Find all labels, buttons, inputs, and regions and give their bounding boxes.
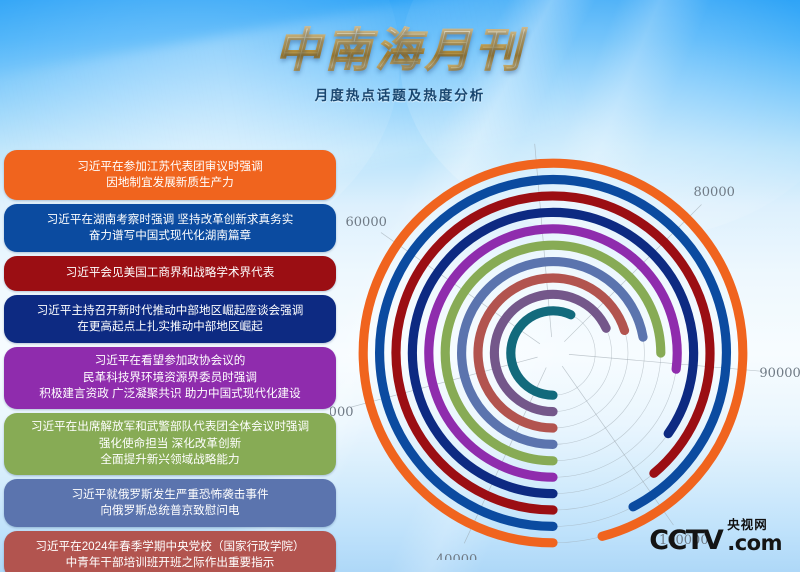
topic-legend-item[interactable]: 习近平在参加江苏代表团审议时强调 因地制宜发展新质生产力 — [4, 150, 336, 200]
chart-bar-arc[interactable] — [363, 163, 743, 543]
radial-bar-chart: 400005000060000700008000090000100000 — [330, 140, 800, 560]
cctv-wordmark: CCTV — [649, 527, 722, 554]
topic-legend-label: 习近平在湖南考察时强调 坚持改革创新求真务实 奋力谱写中国式现代化湖南篇章 — [14, 212, 326, 245]
topic-legend-item[interactable]: 习近平就俄罗斯发生严重恐怖袭击事件 向俄罗斯总统普京致慰问电 — [4, 479, 336, 527]
topic-legend-label: 习近平就俄罗斯发生严重恐怖袭击事件 向俄罗斯总统普京致慰问电 — [14, 487, 326, 520]
chart-axis-tick-label: 60000 — [346, 215, 387, 230]
topic-legend-label: 习近平在2024年春季学期中央党校（国家行政学院） 中青年干部培训班开班之际作出… — [14, 539, 326, 572]
topic-legend-label: 习近平在参加江苏代表团审议时强调 因地制宜发展新质生产力 — [14, 159, 326, 192]
topic-legend-item[interactable]: 习近平在看望参加政协会议的 民革科技界环境资源界委员时强调 积极建言资政 广泛凝… — [4, 347, 336, 409]
chart-axis-tick-label: 50000 — [330, 405, 353, 420]
radial-chart-svg: 400005000060000700008000090000100000 — [330, 140, 800, 560]
page-title: 中南海月刊 — [269, 26, 531, 74]
chart-bar-arc[interactable] — [478, 278, 625, 428]
chart-bar-arc[interactable] — [462, 262, 643, 445]
poster-root: 中南海月刊 月度热点话题及热度分析 习近平在参加江苏代表团审议时强调 因地制宜发… — [0, 0, 800, 572]
topic-legend-item[interactable]: 习近平在湖南考察时强调 坚持改革创新求真务实 奋力谱写中国式现代化湖南篇章 — [4, 204, 336, 252]
chart-axis-tick-label: 80000 — [694, 185, 735, 200]
topic-legend-item[interactable]: 习近平主持召开新时代推动中部地区崛起座谈会强调 在更高起点上扎实推动中部地区崛起 — [4, 295, 336, 343]
topic-legend-label: 习近平在出席解放军和武警部队代表团全体会议时强调 强化使命担当 深化改革创新 全… — [14, 419, 326, 468]
poster-header: 中南海月刊 月度热点话题及热度分析 — [0, 26, 800, 104]
topic-legend-list: 习近平在参加江苏代表团审议时强调 因地制宜发展新质生产力习近平在湖南考察时强调 … — [4, 150, 336, 572]
topic-legend-item[interactable]: 习近平在出席解放军和武警部队代表团全体会议时强调 强化使命担当 深化改革创新 全… — [4, 413, 336, 475]
chart-bar-arc[interactable] — [412, 212, 693, 493]
chart-axis-tick-label: 90000 — [759, 366, 800, 381]
topic-legend-item[interactable]: 习近平会见美国工商界和战略学术界代表 — [4, 256, 336, 291]
topic-legend-item[interactable]: 习近平在2024年春季学期中央党校（国家行政学院） 中青年干部培训班开班之际作出… — [4, 531, 336, 572]
page-subtitle: 月度热点话题及热度分析 — [0, 84, 800, 104]
cctv-cn-wordmark: 央视网 — [727, 519, 768, 532]
title-wrapper: 中南海月刊 — [269, 26, 531, 74]
cctv-com-wordmark: .com — [727, 533, 782, 554]
cctv-logo: CCTV 央视网 .com — [649, 519, 782, 555]
topic-legend-label: 习近平在看望参加政协会议的 民革科技界环境资源界委员时强调 积极建言资政 广泛凝… — [14, 353, 326, 402]
chart-axis-tick-label: 40000 — [436, 553, 477, 560]
logo-right-stack: 央视网 .com — [727, 519, 782, 555]
topic-legend-label: 习近平主持召开新时代推动中部地区崛起座谈会强调 在更高起点上扎实推动中部地区崛起 — [14, 303, 326, 336]
chart-bar-arc[interactable] — [511, 311, 571, 395]
topic-legend-label: 习近平会见美国工商界和战略学术界代表 — [14, 265, 326, 281]
chart-bars — [363, 163, 743, 543]
